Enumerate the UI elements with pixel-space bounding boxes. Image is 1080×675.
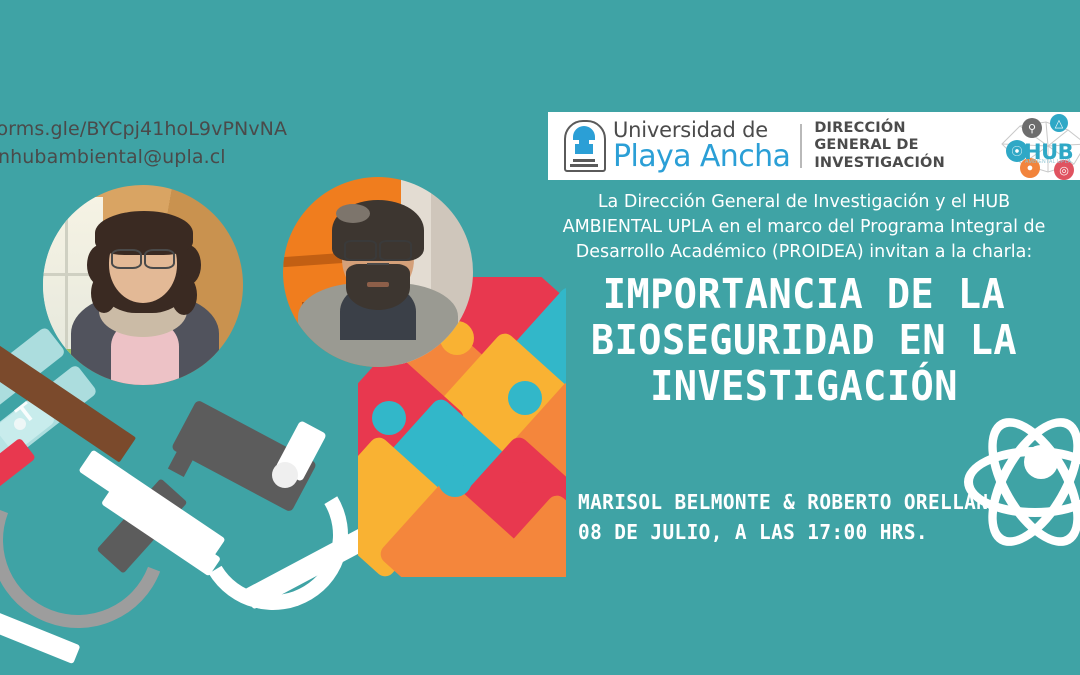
microscope-notch [168,449,194,477]
portrait-hair-curl [171,275,197,315]
department-line2: GENERAL DE [814,137,945,154]
department-line1: DIRECCIÓN [814,120,945,137]
speakers-and-datetime: MARISOL BELMONTE & ROBERTO ORELLANA 08 D… [578,487,1063,547]
white-accent-shape [243,524,377,609]
contact-email[interactable]: eccionhubambiental@upla.cl [0,144,298,172]
puzzle-knob [508,449,542,483]
department-line3: INVESTIGACIÓN [814,155,945,172]
talk-title-line3: INVESTIGACIÓN [563,364,1044,410]
institution-banner: Universidad de Playa Ancha DIRECCIÓN GEN… [548,112,1080,180]
speaker-names: MARISOL BELMONTE & ROBERTO ORELLANA [578,487,1063,517]
event-datetime: 08 DE JULIO, A LAS 17:00 HRS. [578,517,1063,547]
red-liquid-shape [0,438,36,493]
hub-subtitle: AMBIENTAL UPLA [1025,159,1071,165]
microscope-base-lower [101,486,221,577]
upla-logo: Universidad de Playa Ancha [564,120,790,172]
microscope-body [171,399,317,512]
talk-title: IMPORTANCIA DE LA BIOSEGURIDAD EN LA INV… [563,272,1044,410]
poster-canvas: T [0,0,1080,675]
hub-node-icon: △ [1050,114,1068,132]
grey-curve-shape [0,424,194,656]
portrait-marisol-belmonte [43,185,243,385]
microscope-dot [14,418,26,430]
puzzle-knob [438,463,472,497]
hub-ambiental-logo: ⚲ △ ◉ ⦿ ● ◎ HUB AMBIENTAL UPLA [994,114,1080,178]
atom-nucleus [1024,445,1058,479]
hub-node-icon: ⚲ [1022,118,1042,138]
university-name-line1: Universidad de [613,120,790,141]
contact-info: ps://forms.gle/BYCpj41hoL9vPNvNA eccionh… [0,116,298,171]
university-name-line2: Playa Ancha [613,142,790,172]
microscope-base [78,449,225,560]
talk-title-line2: BIOSEGURIDAD EN LA [563,318,1044,364]
test-tube-icon [0,394,56,480]
portrait-glasses [344,240,412,257]
portrait-hair-grey [336,204,370,223]
flask-glyph-icon: T [10,397,41,431]
talk-title-line1: IMPORTANCIA DE LA [563,272,1044,318]
lighthouse-crest-icon [564,120,606,172]
portrait-mouth [367,282,390,288]
registration-url[interactable]: ps://forms.gle/BYCpj41hoL9vPNvNA [0,116,298,144]
portrait-roberto-orellana [283,177,473,367]
white-accent-shape [0,612,80,664]
invitation-text: La Dirección General de Investigación y … [548,190,1060,265]
banner-divider [800,124,802,168]
puzzle-knob [372,401,406,435]
microscope-eyepiece [275,420,327,482]
portrait-glasses-bridge [367,263,390,265]
puzzle-knob [508,381,542,415]
department-name: DIRECCIÓN GENERAL DE INVESTIGACIÓN [814,120,945,171]
microscope-stage [97,478,188,573]
microscope-lens [272,462,298,488]
portrait-glasses [111,249,175,265]
portrait-beard [346,264,411,310]
